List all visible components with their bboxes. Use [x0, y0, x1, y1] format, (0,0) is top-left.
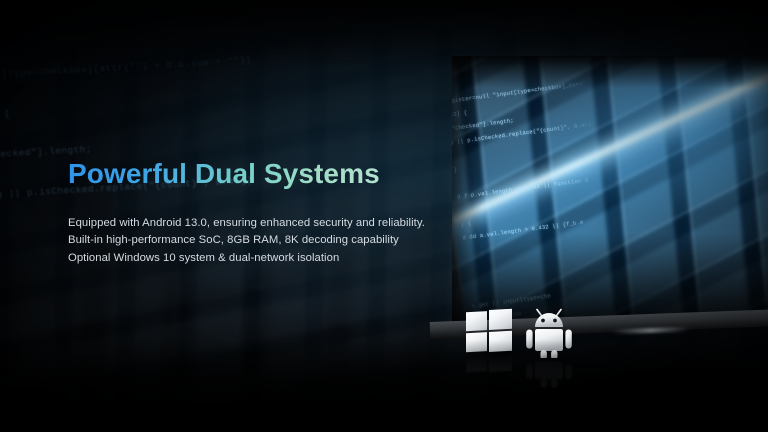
android-robot-reflection [522, 354, 576, 388]
os-logo-group [458, 302, 598, 407]
windows-reflection-pane-right [489, 353, 512, 372]
windows-pane-bottom-left [466, 332, 487, 352]
slide-root: input[type=checkbox]{attr("") + b.c.sum … [0, 0, 768, 432]
feature-line: Built-in high-performance SoC, 8GB RAM, … [68, 232, 425, 249]
windows-logo [466, 309, 512, 354]
windows-logo-reflection [466, 352, 512, 383]
android-robot-logo [522, 306, 576, 358]
windows-pane-bottom-right [489, 331, 512, 352]
windows-pane-top-left [466, 311, 487, 331]
feature-line: Optional Windows 10 system & dual-networ… [68, 250, 425, 267]
feature-line: Equipped with Android 13.0, ensuring enh… [68, 215, 425, 232]
feature-description-list: Equipped with Android 13.0, ensuring enh… [68, 215, 425, 267]
windows-reflection-pane-left [466, 354, 487, 372]
page-title: Powerful Dual Systems [68, 158, 380, 190]
windows-pane-top-right [489, 309, 512, 330]
